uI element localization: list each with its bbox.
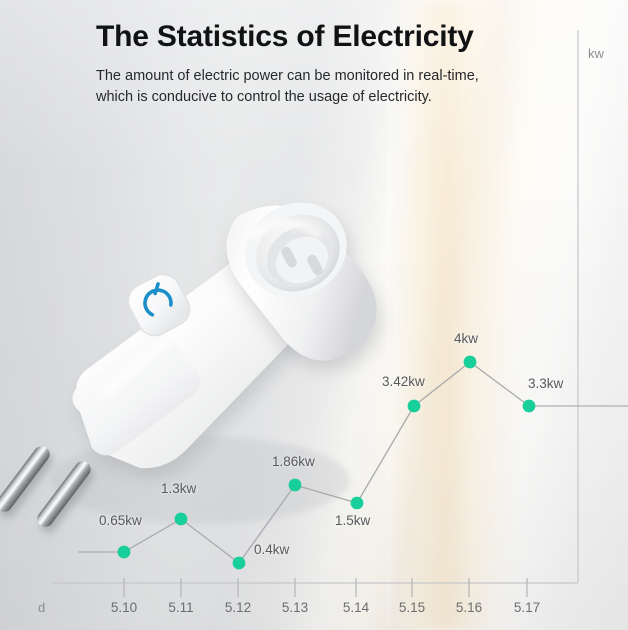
data-label-5-11: 1.3kw — [161, 481, 196, 496]
data-point-5-17[interactable] — [523, 400, 536, 413]
data-point-5-12[interactable] — [233, 557, 246, 570]
x-tick-label-5-10: 5.10 — [111, 600, 137, 615]
data-point-5-10[interactable] — [118, 546, 131, 559]
series-markers — [118, 356, 536, 570]
x-tick-label-5-16: 5.16 — [456, 600, 482, 615]
data-label-5-13: 1.86kw — [272, 454, 315, 469]
x-tick-label-5-17: 5.17 — [514, 600, 540, 615]
data-label-5-17: 3.3kw — [528, 376, 563, 391]
series-line — [124, 362, 529, 563]
x-tick-label-5-14: 5.14 — [343, 600, 369, 615]
x-tick-label-5-12: 5.12 — [225, 600, 251, 615]
page-subtitle-line-1: The amount of electric power can be moni… — [96, 66, 526, 87]
x-axis-ticks — [124, 578, 527, 597]
electricity-statistics-infographic: 0.65kw 1.3kw 0.4kw 1.86kw 1.5kw 3.42kw 4… — [0, 0, 628, 630]
x-tick-label-5-15: 5.15 — [399, 600, 425, 615]
data-label-5-16: 4kw — [454, 331, 478, 346]
data-label-5-10: 0.65kw — [99, 513, 142, 528]
data-label-5-14: 1.5kw — [335, 513, 370, 528]
data-label-5-12: 0.4kw — [254, 542, 289, 557]
page-title: The Statistics of Electricity — [96, 20, 474, 54]
page-subtitle: The amount of electric power can be moni… — [96, 66, 526, 108]
data-point-5-14[interactable] — [351, 497, 364, 510]
data-point-5-16[interactable] — [464, 356, 477, 369]
data-point-5-15[interactable] — [408, 400, 421, 413]
page-subtitle-line-2: which is conducive to control the usage … — [96, 87, 526, 108]
data-label-5-15: 3.42kw — [382, 374, 425, 389]
x-tick-label-5-11: 5.11 — [168, 600, 193, 615]
x-axis-unit-label: d — [38, 600, 45, 615]
y-axis-unit-label: kw — [588, 46, 604, 61]
data-point-5-13[interactable] — [289, 479, 302, 492]
data-point-5-11[interactable] — [175, 513, 188, 526]
x-tick-label-5-13: 5.13 — [282, 600, 308, 615]
